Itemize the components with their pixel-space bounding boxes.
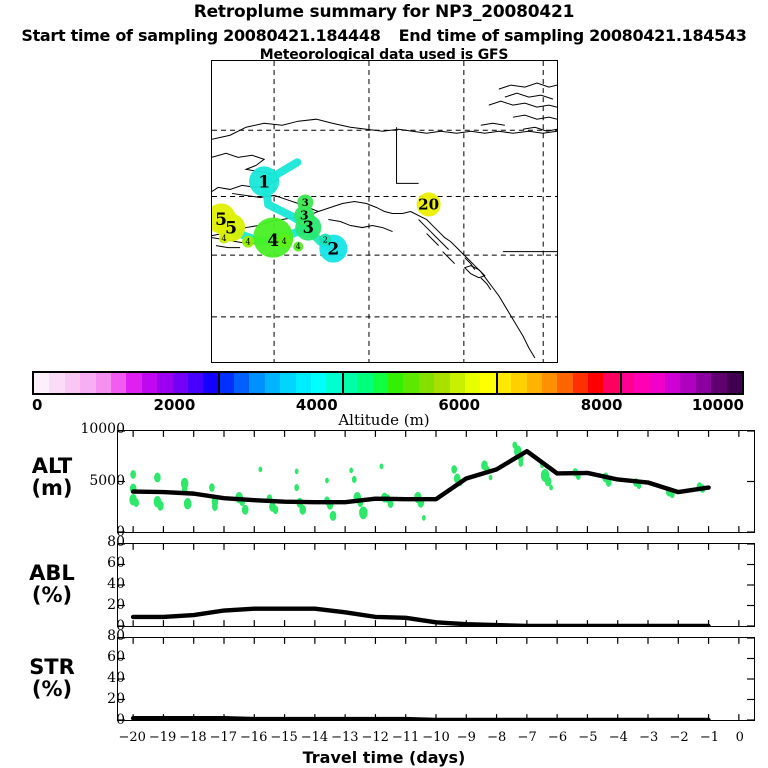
colorbar-swatch bbox=[34, 373, 49, 393]
colorbar-swatch bbox=[542, 373, 557, 393]
y-tick-label: 20 bbox=[53, 691, 125, 707]
cluster-label: 5 bbox=[215, 210, 227, 230]
cluster-label: 2 bbox=[323, 236, 328, 245]
x-tick-label: 0 bbox=[720, 730, 760, 745]
colorbar-swatch bbox=[157, 373, 172, 393]
colorbar-swatch bbox=[511, 373, 526, 393]
scatter-point bbox=[380, 464, 384, 470]
y-tick-label: 10000 bbox=[53, 421, 125, 437]
alt-axis-ticks bbox=[118, 431, 754, 532]
colorbar-swatch bbox=[296, 373, 311, 393]
colorbar-strip bbox=[32, 371, 744, 395]
scatter-point bbox=[359, 506, 368, 519]
colorbar-swatch bbox=[265, 373, 280, 393]
colorbar-swatch bbox=[696, 373, 711, 393]
cluster-label: 1 bbox=[258, 173, 270, 193]
y-tick-label: 60 bbox=[53, 555, 125, 571]
colorbar-swatch bbox=[80, 373, 95, 393]
colorbar-swatch bbox=[234, 373, 249, 393]
cluster-markers: 122333444445520 bbox=[212, 166, 441, 262]
scatter-point bbox=[489, 475, 493, 481]
colorbar-swatch bbox=[249, 373, 264, 393]
scatter-point bbox=[352, 476, 357, 483]
cluster-label: 4 bbox=[282, 237, 287, 246]
abl-plot bbox=[118, 544, 754, 626]
scatter-point bbox=[154, 472, 161, 482]
map-svg: 122333444445520 bbox=[212, 61, 557, 362]
cluster-label: 20 bbox=[418, 196, 439, 214]
colorbar-swatch bbox=[173, 373, 188, 393]
scatter-point bbox=[349, 468, 353, 474]
y-tick-label: 40 bbox=[53, 576, 125, 592]
page-title: Retroplume summary for NP3_20080421 bbox=[0, 2, 768, 22]
scatter-point bbox=[258, 467, 262, 473]
cluster-label: 3 bbox=[302, 198, 309, 209]
str-panel bbox=[117, 637, 755, 721]
scatter-point bbox=[325, 478, 329, 484]
colorbar-separator bbox=[496, 371, 498, 395]
alt-plot bbox=[118, 431, 754, 532]
scatter-point bbox=[184, 498, 192, 509]
str-plot bbox=[118, 638, 754, 720]
scatter-point bbox=[157, 501, 164, 511]
scatter-point bbox=[294, 484, 299, 491]
colorbar-swatch bbox=[203, 373, 218, 393]
colorbar-swatch bbox=[188, 373, 203, 393]
colorbar-swatch bbox=[573, 373, 588, 393]
colorbar-swatch bbox=[373, 373, 388, 393]
colorbar-swatch bbox=[527, 373, 542, 393]
abl-panel bbox=[117, 543, 755, 627]
cluster-label: 4 bbox=[267, 231, 279, 251]
str-axis-ticks bbox=[118, 638, 754, 720]
colorbar-swatch bbox=[219, 373, 234, 393]
scatter-point bbox=[242, 505, 249, 515]
colorbar-swatch bbox=[557, 373, 572, 393]
colorbar-swatch bbox=[342, 373, 357, 393]
scatter-point bbox=[209, 483, 215, 492]
cluster-label: 4 bbox=[246, 238, 251, 247]
colorbar-separator bbox=[218, 371, 220, 395]
x-axis-title: Travel time (days) bbox=[0, 748, 768, 767]
y-tick-label: 5000 bbox=[53, 473, 125, 489]
y-tick-label: 40 bbox=[53, 670, 125, 686]
scatter-point bbox=[295, 469, 299, 475]
end-time-label: End time of sampling 20080421.184543 bbox=[399, 26, 747, 45]
y-tick-label: 80 bbox=[53, 628, 125, 644]
colorbar-swatch bbox=[465, 373, 480, 393]
colorbar-swatch bbox=[603, 373, 618, 393]
cluster-label: 4 bbox=[296, 242, 301, 251]
colorbar-swatch bbox=[65, 373, 80, 393]
y-tick-label: 20 bbox=[53, 597, 125, 613]
colorbar-swatch bbox=[711, 373, 726, 393]
scatter-point bbox=[518, 460, 523, 467]
colorbar-separator bbox=[342, 371, 344, 395]
colorbar-swatch bbox=[450, 373, 465, 393]
y-tick-label: 60 bbox=[53, 649, 125, 665]
scatter-point bbox=[212, 502, 218, 511]
y-tick-label: 80 bbox=[53, 534, 125, 550]
figure-canvas: Retroplume summary for NP3_20080421 Star… bbox=[0, 0, 768, 768]
scatter-point bbox=[422, 515, 426, 521]
altitude-colorbar bbox=[32, 371, 744, 395]
colorbar-swatch bbox=[480, 373, 495, 393]
colorbar-swatch bbox=[126, 373, 141, 393]
scatter-point bbox=[133, 498, 139, 507]
colorbar-swatch bbox=[665, 373, 680, 393]
scatter-point bbox=[299, 505, 306, 515]
scatter-point bbox=[451, 465, 457, 474]
start-time-label: Start time of sampling 20080421.184448 bbox=[21, 26, 380, 45]
colorbar-swatch bbox=[326, 373, 341, 393]
colorbar-swatch bbox=[49, 373, 64, 393]
colorbar-swatch bbox=[142, 373, 157, 393]
cluster-label: 2 bbox=[327, 240, 339, 260]
sampling-times: Start time of sampling 20080421.184448En… bbox=[0, 26, 768, 45]
cluster-label: 3 bbox=[300, 208, 309, 223]
colorbar-swatch bbox=[388, 373, 403, 393]
colorbar-swatch bbox=[280, 373, 295, 393]
colorbar-swatch bbox=[111, 373, 126, 393]
y-tick-label: 0 bbox=[53, 712, 125, 728]
colorbar-swatch bbox=[357, 373, 372, 393]
colorbar-swatch bbox=[96, 373, 111, 393]
str-line bbox=[133, 718, 708, 720]
scatter-point bbox=[549, 485, 553, 491]
colorbar-separator bbox=[620, 371, 622, 395]
colorbar-swatch bbox=[650, 373, 665, 393]
scatter-point bbox=[273, 506, 279, 515]
alt-panel bbox=[117, 430, 755, 533]
colorbar-swatch bbox=[727, 373, 742, 393]
colorbar-swatch bbox=[588, 373, 603, 393]
colorbar-swatch bbox=[680, 373, 695, 393]
colorbar-swatch bbox=[311, 373, 326, 393]
retroplume-map: 122333444445520 bbox=[211, 60, 558, 363]
colorbar-swatch bbox=[403, 373, 418, 393]
colorbar-swatch bbox=[419, 373, 434, 393]
scatter-point bbox=[130, 470, 136, 479]
colorbar-swatch bbox=[634, 373, 649, 393]
abl-line bbox=[133, 609, 708, 626]
colorbar-swatch bbox=[434, 373, 449, 393]
scatter-point bbox=[330, 511, 337, 521]
